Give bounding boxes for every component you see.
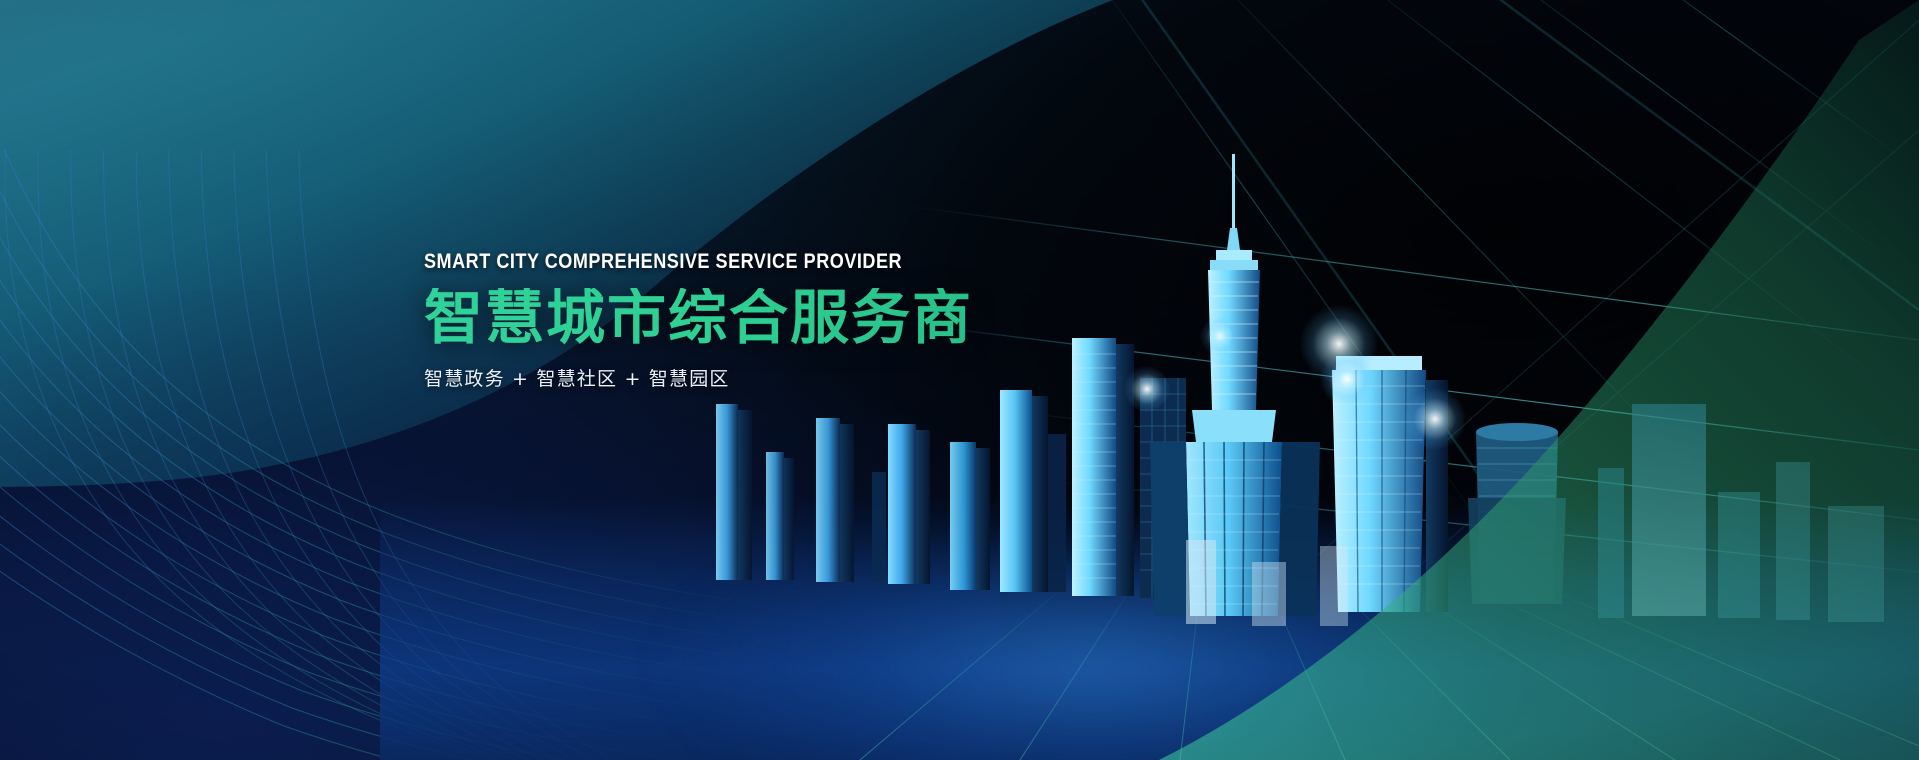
- eyebrow-text: SMART CITY COMPREHENSIVE SERVICE PROVIDE…: [424, 250, 1078, 274]
- hero-copy: SMART CITY COMPREHENSIVE SERVICE PROVIDE…: [424, 250, 1184, 391]
- subtitle-text: 智慧政务 + 智慧社区 + 智慧园区: [424, 364, 1184, 391]
- smart-city-hero-banner: SMART CITY COMPREHENSIVE SERVICE PROVIDE…: [0, 0, 1919, 760]
- page-title: 智慧城市综合服务商: [424, 288, 1184, 348]
